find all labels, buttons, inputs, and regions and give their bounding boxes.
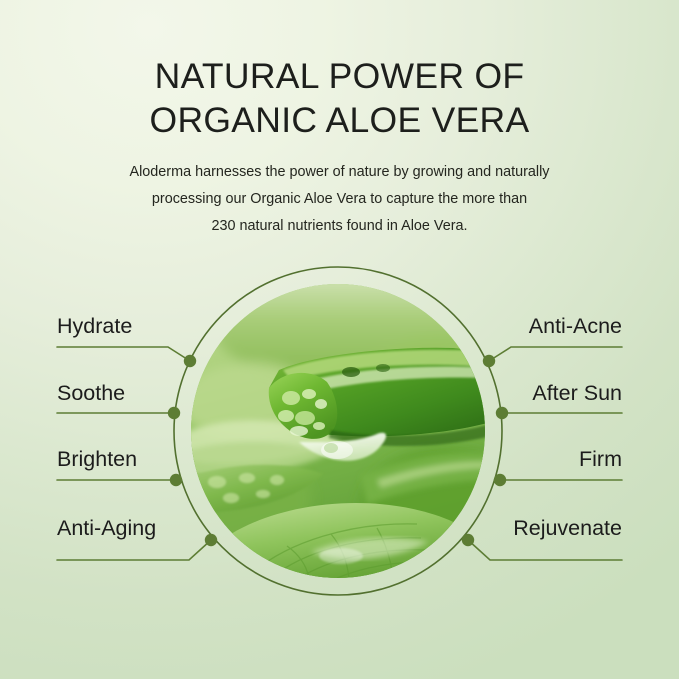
benefit-label-after-sun: After Sun	[532, 380, 622, 406]
node-anti-aging	[205, 534, 217, 546]
benefit-label-hydrate: Hydrate	[57, 313, 132, 339]
benefit-label-brighten: Brighten	[57, 446, 137, 472]
benefit-label-anti-aging: Anti-Aging	[57, 515, 156, 541]
benefit-wheel: Hydrate Soothe Brighten Anti-Aging Anti-…	[0, 0, 679, 679]
aloe-vera-infographic: NATURAL POWER OF ORGANIC ALOE VERA Alode…	[0, 0, 679, 679]
node-firm	[494, 474, 506, 486]
node-rejuvenate	[462, 534, 474, 546]
connector-nodes	[168, 355, 508, 546]
outer-ring	[174, 267, 502, 595]
node-brighten	[170, 474, 182, 486]
benefit-label-soothe: Soothe	[57, 380, 125, 406]
node-anti-acne	[483, 355, 495, 367]
node-after-sun	[496, 407, 508, 419]
wheel-connectors	[0, 0, 679, 679]
benefit-label-anti-acne: Anti-Acne	[529, 313, 622, 339]
node-soothe	[168, 407, 180, 419]
benefit-label-rejuvenate: Rejuvenate	[513, 515, 622, 541]
node-hydrate	[184, 355, 196, 367]
benefit-label-firm: Firm	[579, 446, 622, 472]
